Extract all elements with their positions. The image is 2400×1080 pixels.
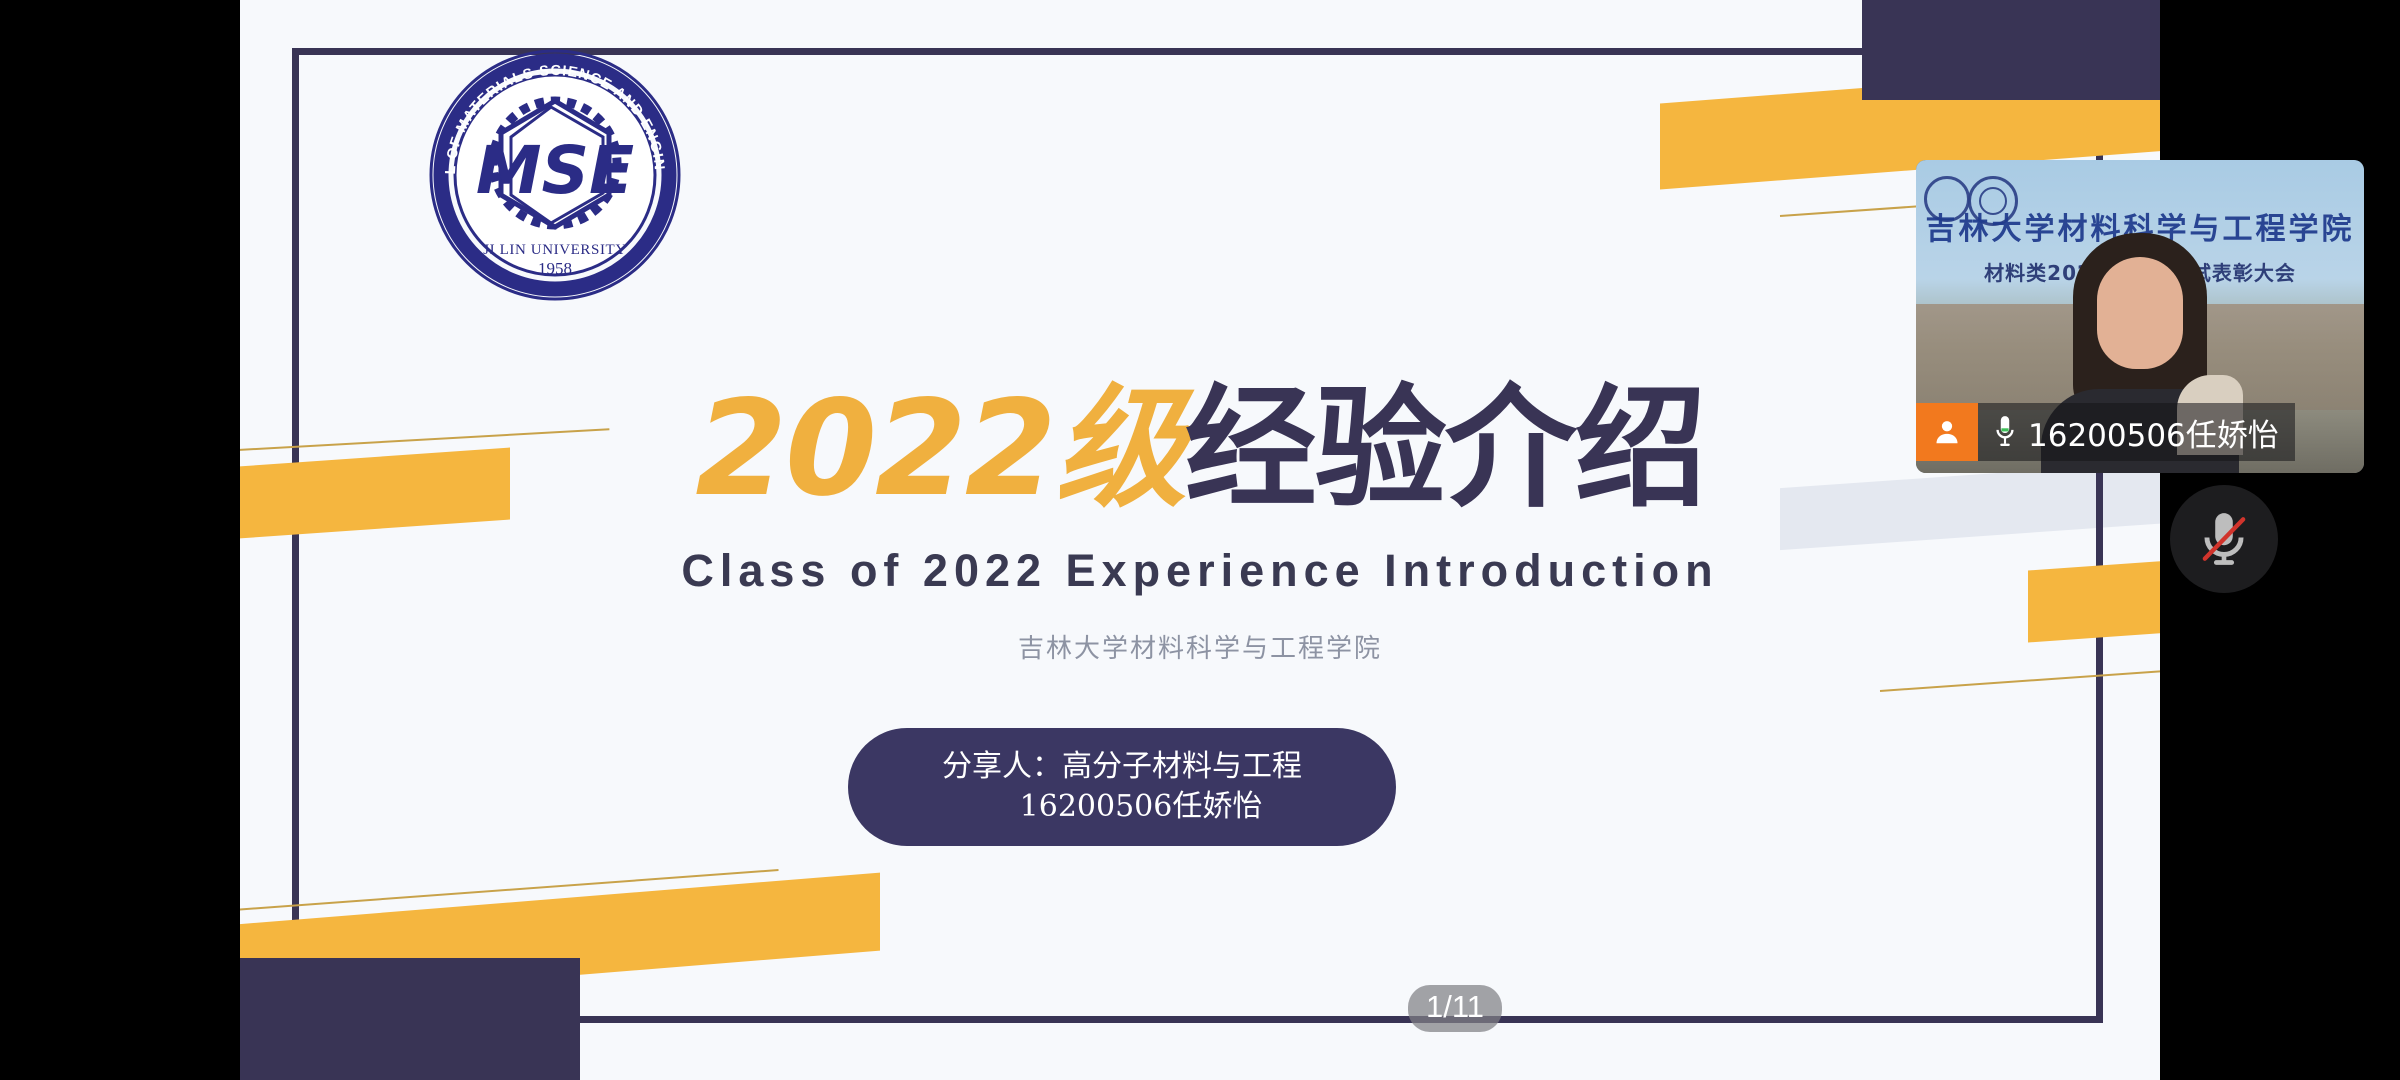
svg-text:MSE: MSE	[476, 132, 634, 209]
presenter-info-pill: 分享人：高分子材料与工程 16200506任娇怡	[848, 728, 1396, 846]
participant-name-bar: 16200506任娇怡	[1916, 403, 2295, 461]
decor-hairline-right	[1880, 666, 2160, 692]
svg-text:JI LIN UNIVERSITY: JI LIN UNIVERSITY	[483, 242, 627, 258]
microphone-icon	[1992, 414, 2018, 450]
slide-subtitle-chinese: 吉林大学材料科学与工程学院	[240, 628, 2160, 665]
screen-share-view: SCHOOL OF MATERIALS SCIENCE AND ENGINEER…	[0, 0, 2400, 1080]
slide-frame-left	[292, 48, 299, 1023]
participant-video-tile[interactable]: 吉林大学材料科学与工程学院 材料类2022级期中考试表彰大会	[1916, 160, 2364, 473]
presenter-major-line: 分享人：高分子材料与工程	[942, 747, 1302, 788]
title-year-text: 2022级	[695, 372, 1184, 526]
figure-face	[2097, 257, 2183, 369]
slide-page-indicator: 1/11	[1408, 985, 1502, 1032]
presenter-id-name-line: 16200506任娇怡	[982, 787, 1263, 828]
mse-jilin-university-logo: SCHOOL OF MATERIALS SCIENCE AND ENGINEER…	[425, 45, 685, 305]
person-icon	[1916, 403, 1978, 461]
svg-text:1958: 1958	[538, 259, 572, 278]
title-main-text: 经验介绍	[1185, 372, 1705, 526]
microphone-muted-icon[interactable]	[2170, 485, 2278, 593]
slide-main-title: 2022级经验介绍	[240, 380, 2160, 519]
slide-subtitle-english: Class of 2022 Experience Introduction	[240, 545, 2160, 597]
presentation-slide[interactable]: SCHOOL OF MATERIALS SCIENCE AND ENGINEER…	[240, 0, 2160, 1080]
participant-name-label: 16200506任娇怡	[2028, 410, 2279, 455]
decor-navy-block-top-right	[1862, 0, 2160, 100]
decor-navy-block-lower-left	[240, 958, 580, 1080]
